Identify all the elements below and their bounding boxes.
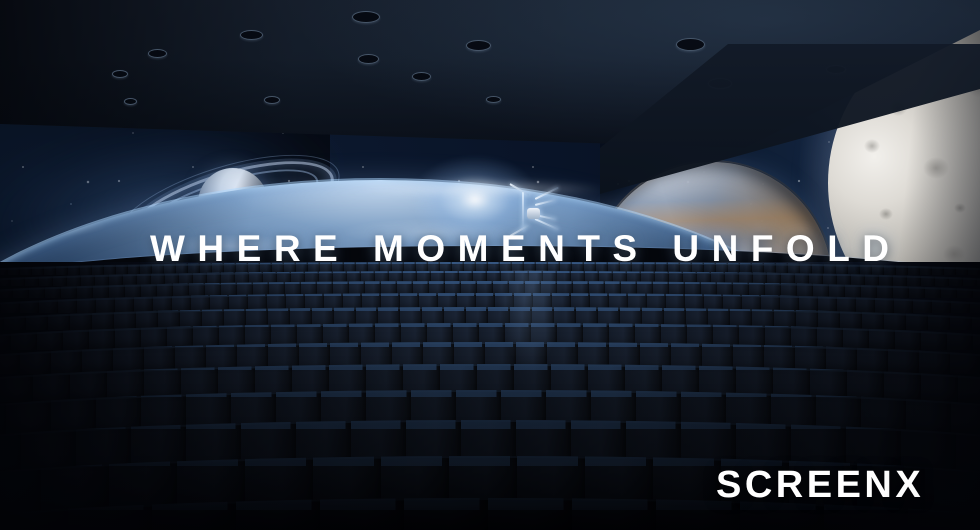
downlight-icon (124, 98, 137, 105)
seat-back-highlight (0, 364, 980, 370)
downlight-icon (240, 30, 263, 40)
seat-back-highlight (0, 342, 980, 347)
downlight-icon (412, 72, 431, 81)
seat-back-highlight (0, 390, 980, 397)
seat-back-highlight (0, 323, 980, 327)
screenx-hero-banner: WHERE MOMENTS UNFOLD SCREENX (0, 0, 980, 530)
seat-back-highlight (0, 271, 980, 273)
downlight-icon (486, 96, 501, 103)
screenx-logo: SCREENX (716, 464, 921, 507)
seat-back-highlight (0, 293, 980, 296)
downlight-icon (148, 49, 167, 58)
downlight-icon (358, 54, 379, 64)
downlight-icon (112, 70, 128, 78)
logo-main-text: SCREEN (716, 464, 895, 506)
downlight-icon (466, 40, 491, 51)
seat-back-highlight (0, 420, 980, 429)
logo-accent-letter: X (895, 464, 920, 506)
seat-back-highlight (0, 307, 980, 311)
downlight-icon (352, 11, 380, 23)
page-title: WHERE MOMENTS UNFOLD (150, 228, 902, 270)
downlight-icon (264, 96, 280, 104)
downlight-icon (676, 38, 705, 51)
seat-back-highlight (0, 281, 980, 284)
